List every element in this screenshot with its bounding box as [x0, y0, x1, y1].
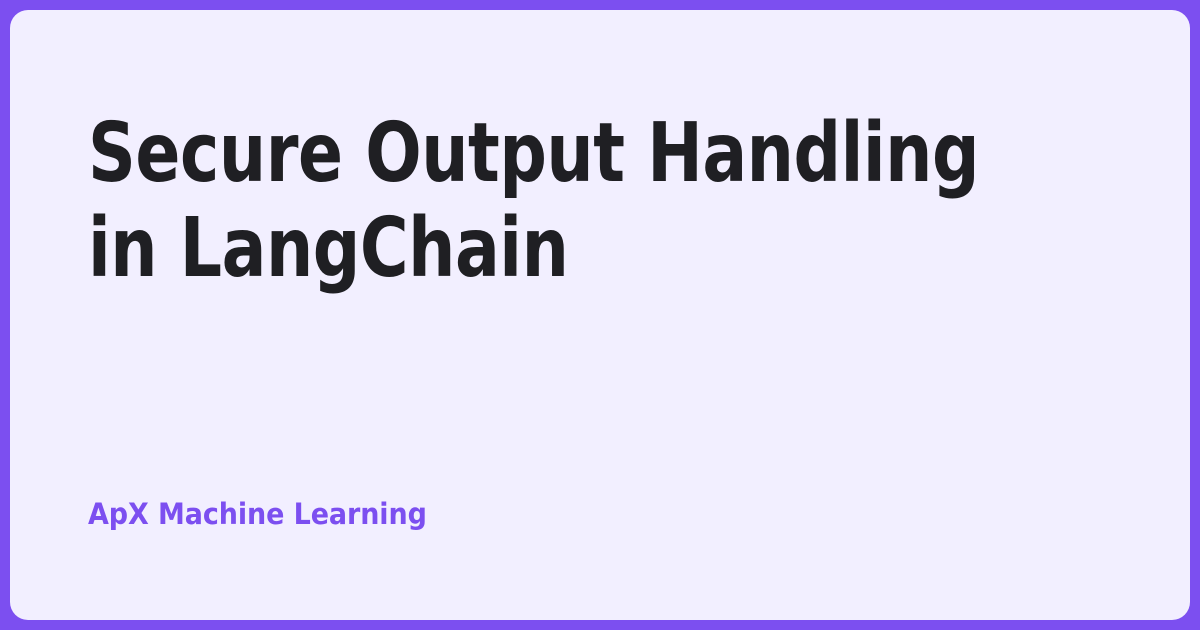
brand-block: ApX Machine Learning [88, 497, 452, 532]
card-canvas: Secure Output Handling in LangChain ApX … [10, 10, 1190, 620]
brand-name: ApX Machine Learning [88, 497, 427, 532]
social-share-card: Secure Output Handling in LangChain ApX … [0, 0, 1200, 630]
title-block: Secure Output Handling in LangChain [88, 106, 1110, 296]
page-title: Secure Output Handling in LangChain [88, 106, 1008, 296]
